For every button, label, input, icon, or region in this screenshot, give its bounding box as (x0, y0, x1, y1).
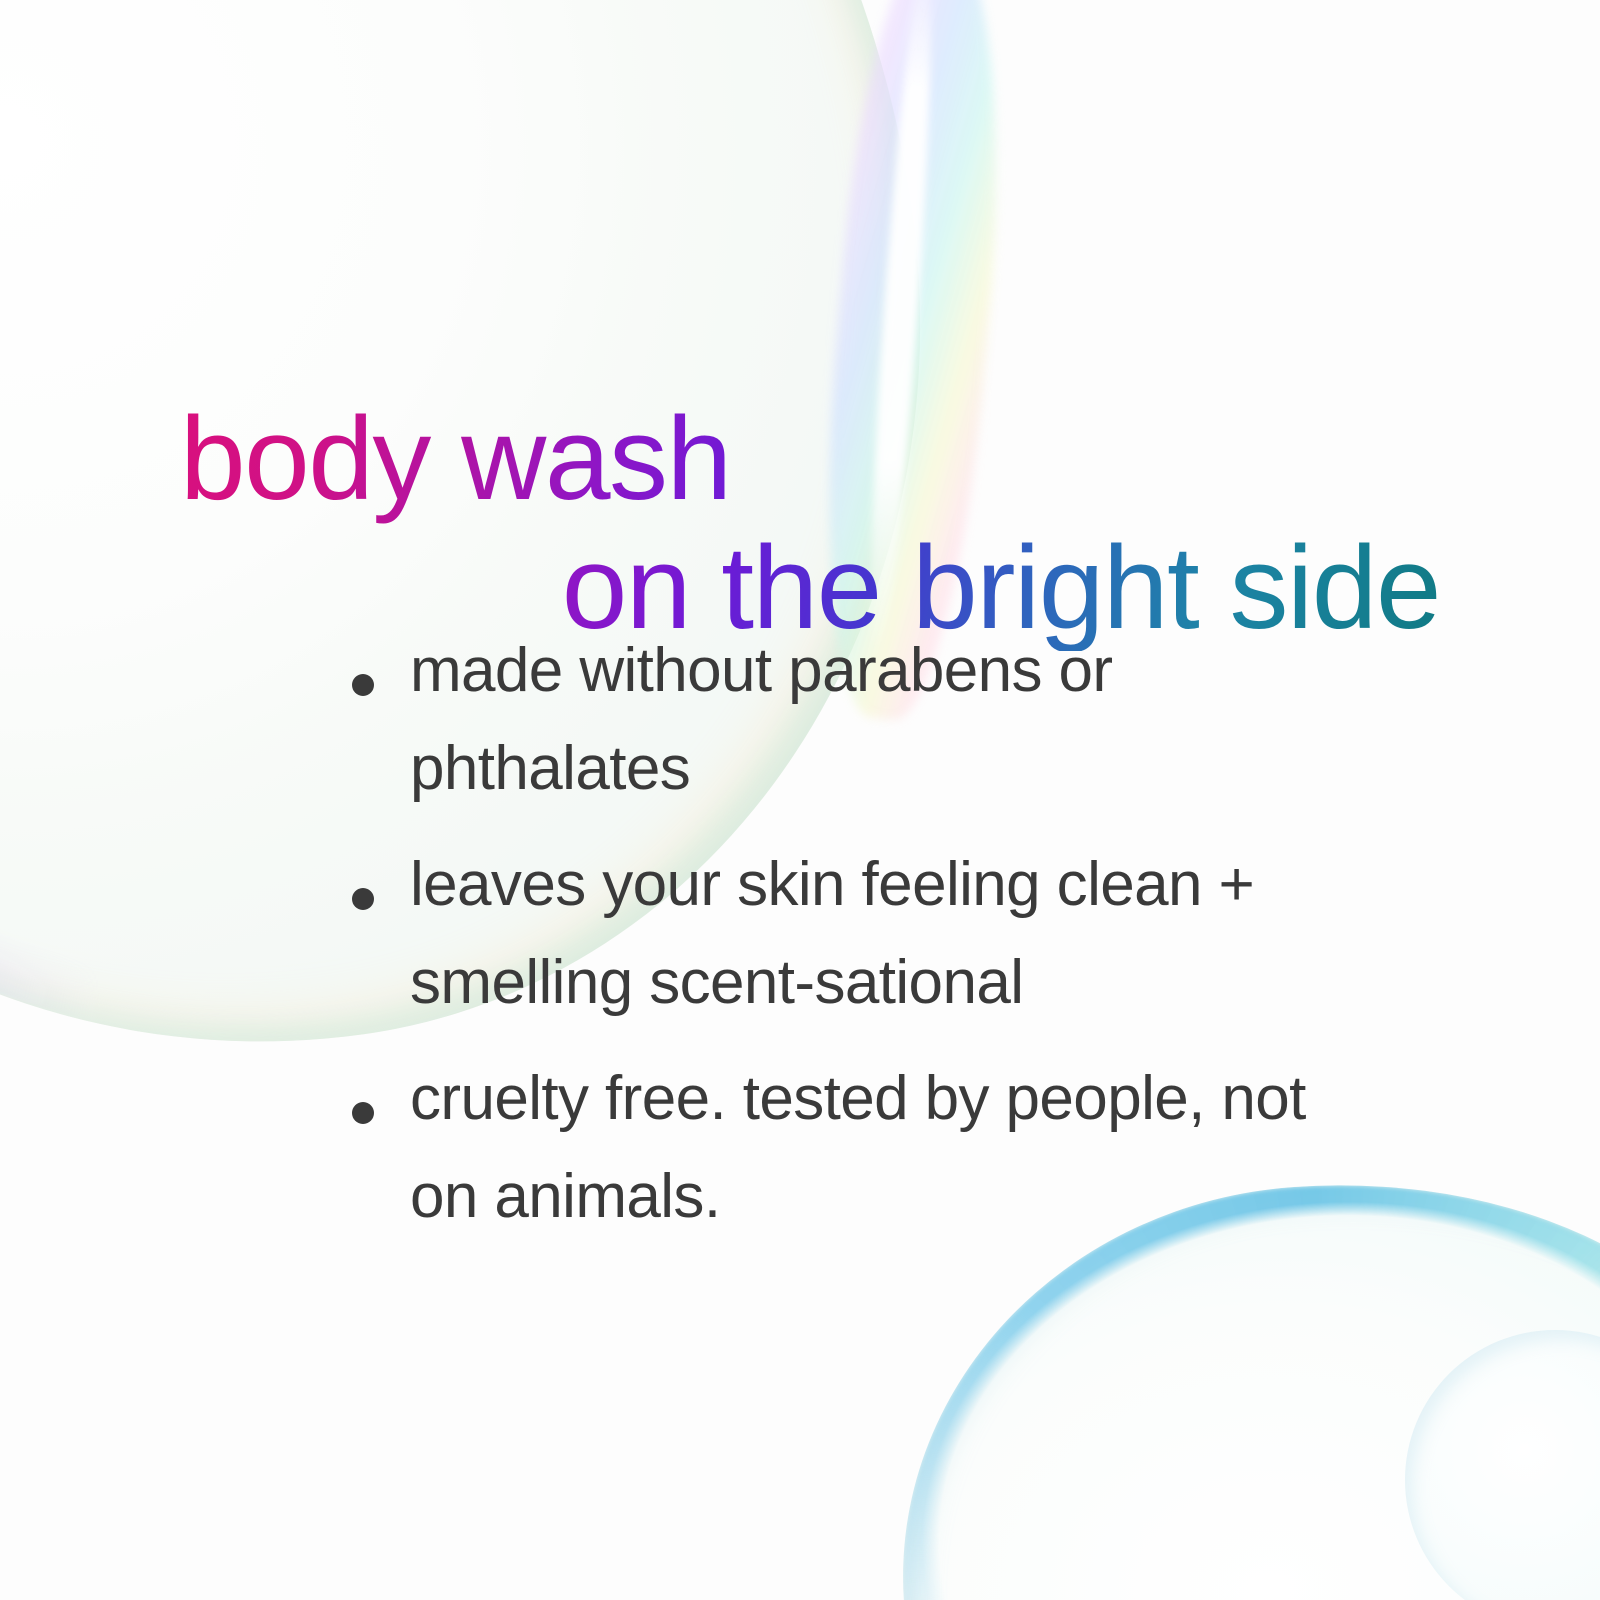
poster-canvas: body wash on the bright side made withou… (0, 0, 1600, 1600)
list-item: made without parabens or phthalates (330, 622, 1340, 818)
list-item: cruelty free. tested by people, not on a… (330, 1050, 1340, 1246)
page-title: body wash on the bright side (180, 397, 1440, 651)
headline-line-1: body wash (180, 397, 1440, 522)
poster-content: body wash on the bright side made withou… (0, 0, 1600, 1600)
list-item: leaves your skin feeling clean + smellin… (330, 836, 1340, 1032)
feature-bullet-list: made without parabens or phthalates leav… (330, 622, 1340, 1264)
